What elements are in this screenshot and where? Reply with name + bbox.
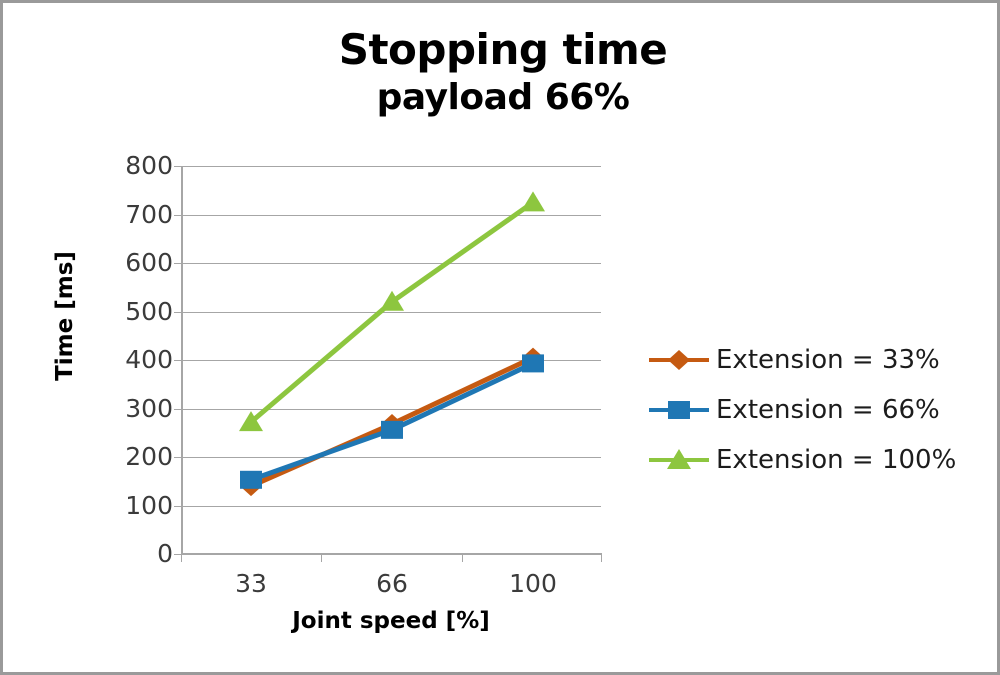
chart-subtitle: payload 66% bbox=[3, 75, 1000, 121]
legend-item[interactable]: Extension = 33% bbox=[648, 335, 988, 385]
legend-label: Extension = 66% bbox=[716, 395, 940, 425]
legend-label: Extension = 33% bbox=[716, 345, 940, 375]
legend-item[interactable]: Extension = 100% bbox=[648, 435, 988, 485]
y-axis-tick-label: 200 bbox=[83, 444, 173, 469]
x-axis-tick bbox=[321, 554, 322, 562]
y-axis-tick-label: 300 bbox=[83, 396, 173, 421]
y-axis-tick-label: 600 bbox=[83, 250, 173, 275]
legend-item[interactable]: Extension = 66% bbox=[648, 385, 988, 435]
x-axis-tick bbox=[462, 554, 463, 562]
legend-label: Extension = 100% bbox=[716, 445, 956, 475]
y-axis-tick-label: 0 bbox=[83, 541, 173, 566]
legend-marker-icon bbox=[648, 399, 710, 421]
y-axis-tick-label: 700 bbox=[83, 202, 173, 227]
y-axis-tick-label: 100 bbox=[83, 493, 173, 518]
y-axis-tick bbox=[174, 215, 181, 216]
y-axis-tick bbox=[174, 409, 181, 410]
y-axis-tick bbox=[174, 263, 181, 264]
legend-marker-icon bbox=[648, 349, 710, 371]
data-point-marker bbox=[240, 471, 262, 489]
data-point-marker bbox=[521, 191, 545, 211]
y-axis-tick bbox=[174, 360, 181, 361]
data-point-marker bbox=[522, 354, 544, 372]
title-block: Stopping time payload 66% bbox=[3, 25, 1000, 121]
data-point-marker bbox=[381, 421, 403, 439]
chart-title: Stopping time bbox=[3, 25, 1000, 75]
y-axis-tick-labels: 0100200300400500600700800 bbox=[83, 166, 173, 554]
x-axis-tick bbox=[181, 554, 182, 562]
y-axis-tick bbox=[174, 166, 181, 167]
y-axis-tick-label: 400 bbox=[83, 347, 173, 372]
x-axis-tick bbox=[601, 554, 602, 562]
series-plot bbox=[181, 166, 601, 555]
x-axis-tick-label: 33 bbox=[191, 569, 311, 598]
y-axis-tick bbox=[174, 554, 181, 555]
series-line bbox=[251, 202, 533, 422]
y-axis-title: Time [ms] bbox=[52, 236, 78, 396]
y-axis-tick-label: 500 bbox=[83, 299, 173, 324]
x-axis-title: Joint speed [%] bbox=[181, 608, 601, 634]
y-axis-tick-label: 800 bbox=[83, 153, 173, 178]
y-axis-tick bbox=[174, 312, 181, 313]
y-axis-tick bbox=[174, 506, 181, 507]
legend-marker-icon bbox=[648, 449, 710, 471]
chart-container: Stopping time payload 66% Time [ms] Join… bbox=[0, 0, 1000, 675]
chart-legend: Extension = 33%Extension = 66%Extension … bbox=[648, 335, 988, 485]
x-axis-tick-label: 100 bbox=[473, 569, 593, 598]
y-axis-tick bbox=[174, 457, 181, 458]
x-axis-tick-label: 66 bbox=[332, 569, 452, 598]
